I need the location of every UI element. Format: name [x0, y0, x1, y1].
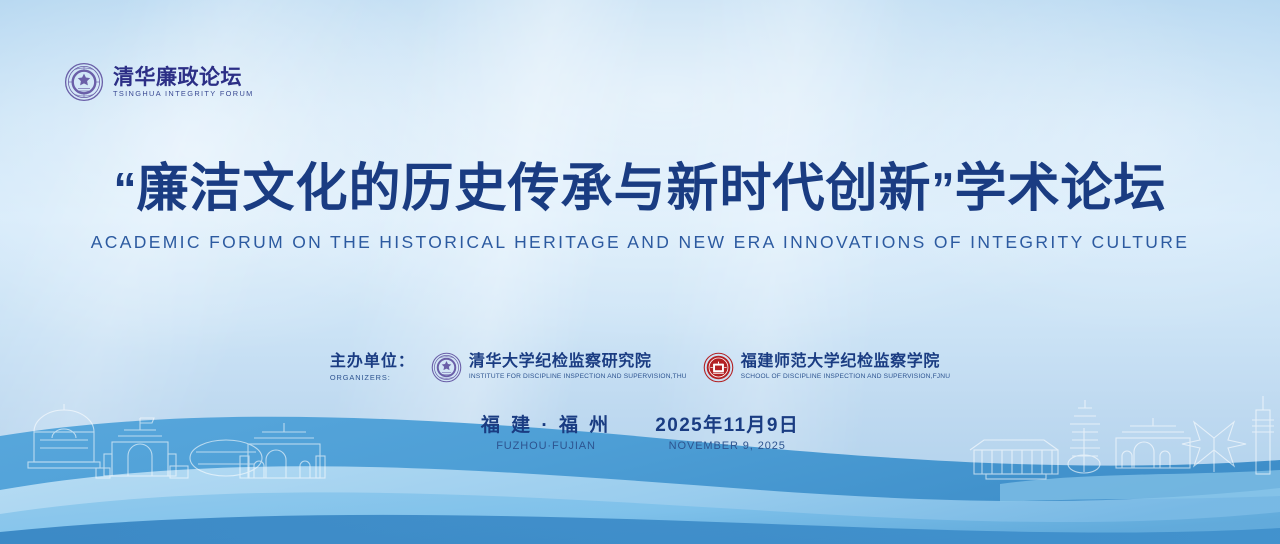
organizer-thu-name-cn: 清华大学纪检监察研究院: [469, 354, 687, 370]
event-date-en: NOVEMBER 9, 2025: [669, 441, 786, 452]
organizers-row: 主办单位： ORGANIZERS: 清华大学纪检监察研究院: [0, 352, 1280, 383]
page-title: “廉洁文化的历史传承与新时代创新”学术论坛: [0, 160, 1280, 218]
title-quoted-text: 廉洁文化的历史传承与新时代创新: [136, 160, 931, 218]
event-date-cn: 2025年11月9日: [655, 416, 799, 435]
conference-banner: 清华廉政论坛 TSINGHUA INTEGRITY FORUM “廉洁文化的历史…: [0, 0, 1280, 544]
tsinghua-seal-icon: [431, 352, 462, 383]
title-block: “廉洁文化的历史传承与新时代创新”学术论坛 ACADEMIC FORUM ON …: [0, 160, 1280, 253]
organizers-label-en: ORGANIZERS:: [330, 374, 391, 381]
wave-decoration: [0, 364, 1280, 544]
organizer-thu-name-en: INSTITUTE FOR DISCIPLINE INSPECTION AND …: [469, 374, 687, 381]
title-tail-text: 学术论坛: [955, 160, 1167, 218]
organizer-fjnu-name-en: SCHOOL OF DISCIPLINE INSPECTION AND SUPE…: [741, 374, 950, 381]
forum-logo-subtitle: TSINGHUA INTEGRITY FORUM: [113, 90, 254, 97]
organizer-fjnu: 福建师范大学纪检监察学院 SCHOOL OF DISCIPLINE INSPEC…: [703, 352, 950, 383]
organizer-fjnu-name-cn: 福建师范大学纪检监察学院: [741, 354, 950, 370]
forum-logo: 清华廉政论坛 TSINGHUA INTEGRITY FORUM: [64, 62, 254, 102]
event-location: 福 建 · 福 州 FUZHOU·FUJIAN: [481, 416, 611, 452]
page-subtitle: ACADEMIC FORUM ON THE HISTORICAL HERITAG…: [0, 232, 1280, 253]
forum-logo-title: 清华廉政论坛: [113, 67, 254, 89]
event-location-cn: 福 建 · 福 州: [481, 416, 611, 435]
event-meta-row: 福 建 · 福 州 FUZHOU·FUJIAN 2025年11月9日 NOVEM…: [0, 416, 1280, 452]
event-date: 2025年11月9日 NOVEMBER 9, 2025: [655, 416, 799, 452]
tsinghua-seal-icon: [64, 62, 104, 102]
fjnu-seal-icon: [703, 352, 734, 383]
event-location-en: FUZHOU·FUJIAN: [496, 441, 596, 452]
quote-open: “: [113, 163, 136, 215]
quote-close: ”: [932, 163, 955, 215]
organizers-label-cn: 主办单位：: [330, 354, 415, 370]
organizers-label: 主办单位： ORGANIZERS:: [330, 354, 415, 381]
organizer-thu: 清华大学纪检监察研究院 INSTITUTE FOR DISCIPLINE INS…: [431, 352, 687, 383]
